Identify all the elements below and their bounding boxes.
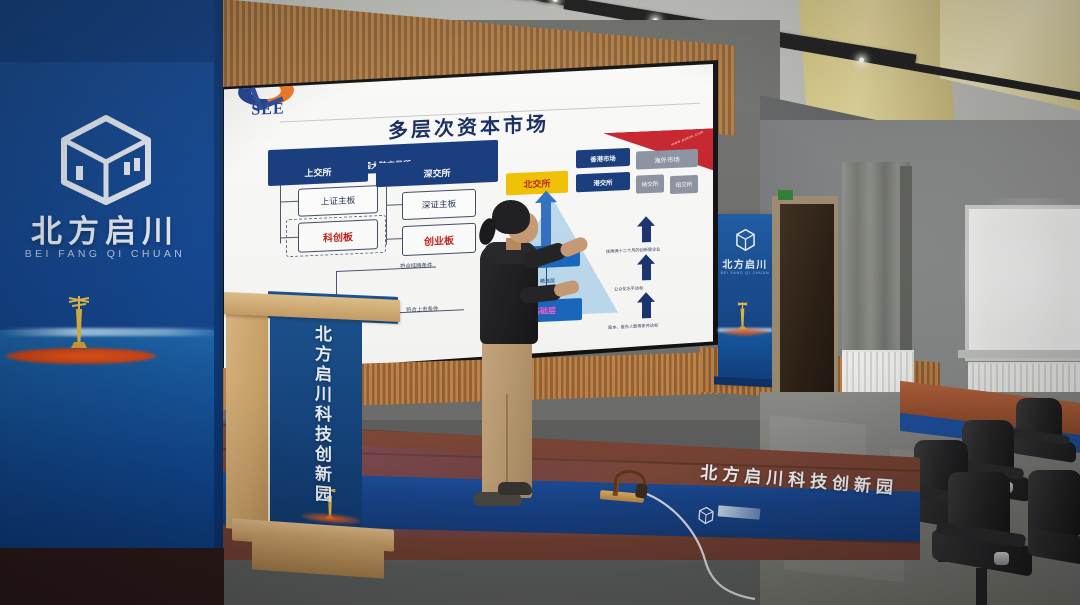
cube-house-logo-icon (735, 228, 756, 252)
market-box-hongkong: 香港市场 (576, 148, 630, 168)
presenter-hair (492, 200, 530, 234)
presenter-hand (558, 235, 589, 258)
connector-line (386, 238, 402, 240)
connector-line (280, 201, 298, 203)
left-banner-horizon-glow (0, 328, 222, 336)
window-light-bloom (958, 198, 1080, 362)
bottom-note-1: 符合挂牌条件 (400, 261, 432, 270)
presenter-shoe (498, 482, 532, 495)
market-box-nasdaq: 纳交所 (636, 174, 664, 193)
left-banner-sea-graphic (0, 330, 222, 560)
dashed-group-box (286, 215, 386, 257)
podium: 北方启川科技创新园 (224, 296, 400, 571)
left-banner-pinyin: BEI FANG QI CHUAN (0, 248, 210, 260)
slide-watermark: www.pptok.com (671, 129, 705, 147)
board-box-sse-main: 上证主板 (298, 185, 378, 217)
market-box-overseas: 海外市场 (636, 149, 698, 170)
left-banner-edge (214, 0, 223, 560)
conference-room-photo: SEE 多层次资本市场 www.pptok.com 中国大陆交易所 上交所 深交… (0, 0, 1080, 605)
connector-line (386, 187, 387, 245)
tower-illustration-icon (66, 292, 92, 354)
exit-sign-icon (778, 190, 793, 200)
person-presenting-icon (462, 196, 588, 526)
rollup-banner-sea (718, 330, 772, 382)
tower-illustration-icon (736, 300, 749, 332)
up-arrow-icon (642, 301, 651, 318)
exchange-box-shenzhen: 深交所 (376, 158, 498, 187)
left-banner-name: 北方启川 (0, 206, 210, 251)
up-arrow-icon (642, 263, 651, 280)
cube-house-logo-icon (52, 110, 160, 206)
podium-vertical-text: 北方启川科技创新园 (296, 323, 330, 506)
cable-icon (645, 492, 875, 602)
connector-line (386, 204, 402, 206)
window-sill (958, 350, 1080, 358)
door-icon[interactable] (780, 204, 834, 396)
exchange-box-shanghai: 上交所 (268, 158, 368, 186)
see-logo-text: SEE (240, 100, 296, 120)
rollup-banner-pinyin: BEI FANG QI CHUAN (718, 271, 772, 275)
connector-line (280, 185, 281, 243)
bottom-note-2: 符合上市条件 (406, 304, 438, 313)
market-box-hkex: 港交所 (576, 172, 630, 192)
foreground-floor-left (0, 548, 224, 605)
rollup-banner-name: 北方启川 (718, 256, 772, 271)
market-box-nyse: 纽交所 (670, 175, 698, 194)
presenter-hand (553, 279, 580, 298)
arrow-caption: 股本、股东人数等条件达标 (608, 323, 658, 331)
podium-side-panel (226, 310, 270, 532)
up-arrow-icon (642, 225, 651, 242)
left-banner-top-shadow (0, 0, 222, 62)
